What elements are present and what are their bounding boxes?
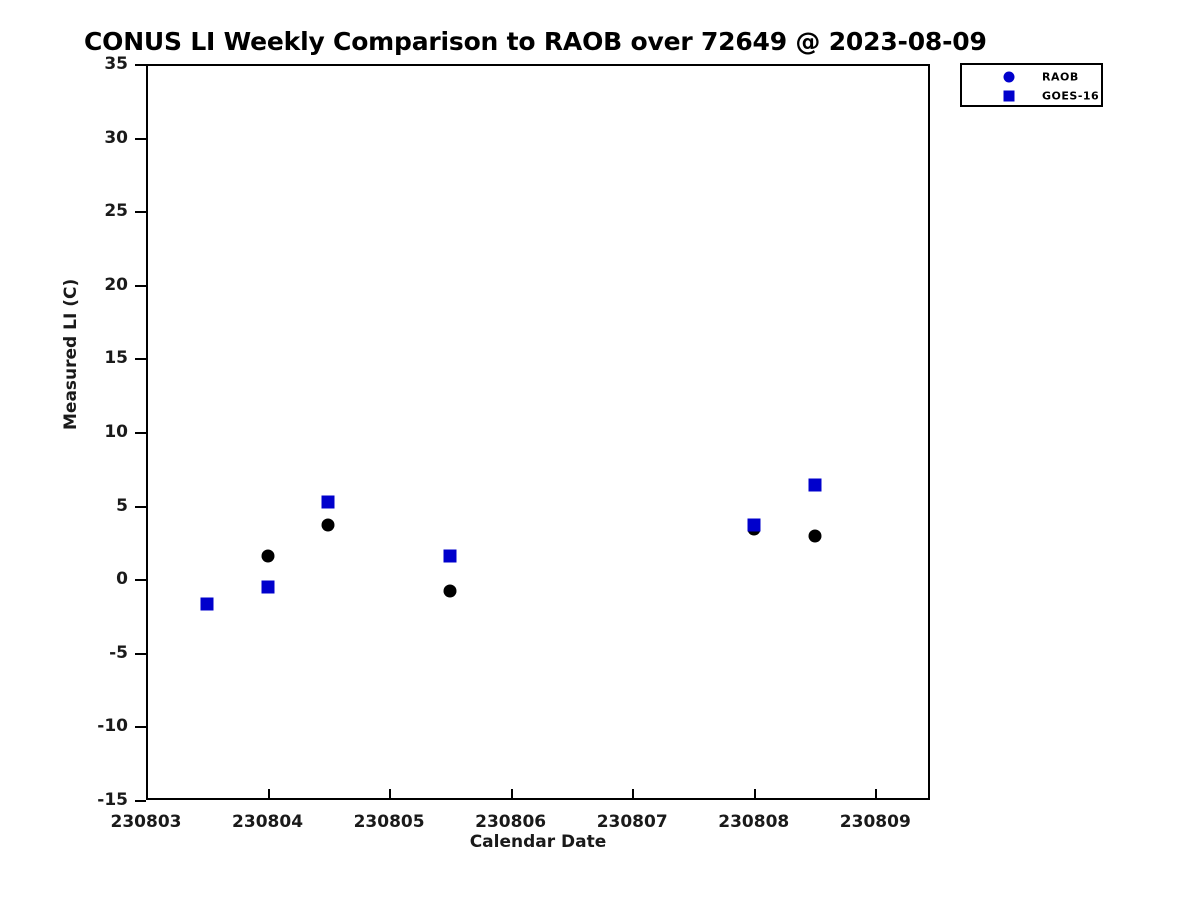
y-tick-mark — [135, 579, 146, 581]
x-tick-mark — [754, 789, 756, 800]
x-tick-mark — [146, 789, 148, 800]
y-tick-label: 20 — [104, 277, 128, 294]
chart-title: CONUS LI Weekly Comparison to RAOB over … — [84, 27, 987, 56]
y-tick-mark — [135, 653, 146, 655]
data-point-raob — [808, 529, 821, 542]
y-tick-label: 0 — [116, 571, 128, 588]
x-tick-label: 230806 — [475, 814, 546, 831]
y-axis-title: Measured LI (C) — [61, 279, 81, 430]
x-tick-label: 230803 — [111, 814, 182, 831]
x-tick-label: 230805 — [354, 814, 425, 831]
y-tick-mark — [135, 138, 146, 140]
y-tick-mark — [135, 285, 146, 287]
y-tick-label: 30 — [104, 130, 128, 147]
legend-label: GOES-16 — [1042, 89, 1099, 102]
plot-area: 35302520151050-5-10-15 23080323080423080… — [146, 64, 930, 800]
x-tick-mark — [389, 789, 391, 800]
legend: RAOBGOES-16 — [960, 63, 1103, 107]
y-tick-label: -5 — [109, 645, 128, 662]
data-point-goes-16 — [443, 549, 456, 562]
x-tick-mark — [875, 789, 877, 800]
data-point-raob — [322, 518, 335, 531]
x-tick-mark — [632, 789, 634, 800]
legend-circle-icon — [1004, 71, 1015, 82]
data-point-goes-16 — [747, 518, 760, 531]
y-tick-label: 10 — [104, 424, 128, 441]
legend-entry[interactable]: RAOB — [962, 67, 1101, 86]
x-axis-title: Calendar Date — [470, 832, 607, 852]
legend-square-icon — [1004, 90, 1015, 101]
y-tick-label: -15 — [97, 792, 128, 809]
y-tick-mark — [135, 211, 146, 213]
x-tick-label: 230808 — [718, 814, 789, 831]
data-point-goes-16 — [200, 598, 213, 611]
x-tick-mark — [268, 789, 270, 800]
x-tick-label: 230807 — [597, 814, 668, 831]
legend-entry[interactable]: GOES-16 — [962, 86, 1101, 105]
x-tick-label: 230809 — [840, 814, 911, 831]
data-point-goes-16 — [322, 495, 335, 508]
chart-root: CONUS LI Weekly Comparison to RAOB over … — [0, 0, 1200, 900]
y-tick-label: 15 — [104, 350, 128, 367]
data-point-raob — [261, 550, 274, 563]
x-tick-mark — [511, 789, 513, 800]
y-tick-label: 5 — [116, 498, 128, 515]
y-tick-mark — [135, 726, 146, 728]
x-tick-label: 230804 — [232, 814, 303, 831]
y-tick-mark — [135, 358, 146, 360]
data-point-goes-16 — [808, 478, 821, 491]
legend-label: RAOB — [1042, 70, 1079, 83]
y-tick-label: 25 — [104, 203, 128, 220]
y-tick-mark — [135, 800, 146, 802]
y-tick-mark — [135, 64, 146, 66]
y-tick-mark — [135, 432, 146, 434]
y-tick-mark — [135, 506, 146, 508]
data-point-raob — [443, 584, 456, 597]
y-tick-label: 35 — [104, 56, 128, 73]
y-tick-label: -10 — [97, 718, 128, 735]
data-point-goes-16 — [261, 581, 274, 594]
